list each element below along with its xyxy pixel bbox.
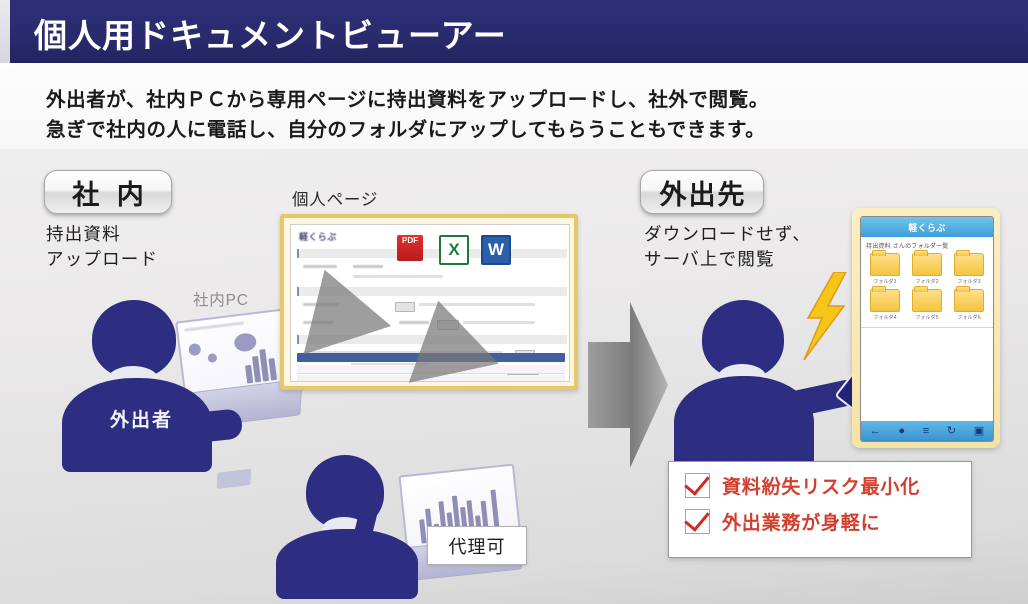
- list-item[interactable]: フォルダ4: [865, 289, 905, 321]
- mockup-logo: 軽くらぶ: [299, 230, 337, 243]
- menu-icon[interactable]: ≡: [923, 426, 929, 437]
- benefit-label: 外出業務が身軽に: [722, 508, 880, 535]
- camera-icon[interactable]: ▣: [974, 426, 984, 437]
- mobile-folder-grid: フォルダ1 フォルダ2 フォルダ3 フォルダ4 フォルダ5: [861, 253, 993, 328]
- list-item[interactable]: フォルダ1: [865, 253, 905, 285]
- badge-internal: 社 内: [44, 170, 172, 214]
- mobile-device-mockup[interactable]: 軽くらぶ 持出資料 さんのフォルダ一覧 フォルダ1 フォルダ2 フォルダ3 フォ: [852, 208, 1000, 448]
- person-arm: [167, 408, 244, 446]
- caption-upload-line-1: 持出資料: [46, 222, 158, 247]
- person-proxy: [270, 455, 445, 595]
- folder-label: フォルダ2: [907, 278, 947, 285]
- back-icon[interactable]: ←: [870, 426, 881, 437]
- subtitle-line-2: 急ぎで社内の人に電話し、自分のフォルダにアップしてもらうこともできます。: [46, 113, 765, 142]
- list-item[interactable]: フォルダ2: [907, 253, 947, 285]
- screen-chart-bar: [259, 349, 269, 381]
- caption-view-line-1: ダウンロードせず、: [644, 222, 811, 247]
- list-item[interactable]: フォルダ5: [907, 289, 947, 321]
- subtitle-band: 外出者が、社内ＰＣから専用ページに持出資料をアップロードし、社外で閲覧。 急ぎで…: [0, 63, 1028, 149]
- folder-label: フォルダ5: [907, 314, 947, 321]
- mockup-section-header: [297, 249, 567, 258]
- folder-icon: [954, 289, 984, 312]
- proxy-label-box: 代理可: [427, 526, 527, 565]
- folder-icon: [954, 253, 984, 276]
- mobile-content-area: [861, 328, 993, 421]
- refresh-icon[interactable]: ↻: [947, 426, 956, 437]
- folder-icon: [870, 253, 900, 276]
- label-personal-page: 個人ページ: [292, 186, 378, 210]
- benefit-row: 外出業務が身軽に: [685, 508, 971, 535]
- checkmark-icon: [685, 509, 710, 534]
- folder-label: フォルダ1: [865, 278, 905, 285]
- page-title: 個人用ドキュメントビューアー: [34, 9, 507, 57]
- excel-file-icon: X: [439, 235, 469, 265]
- folder-label: フォルダ4: [865, 314, 905, 321]
- pdf-file-icon-label: PDF: [397, 236, 423, 245]
- label-traveler: 外出者: [110, 405, 173, 432]
- caption-view-line-2: サーバ上で閲覧: [644, 247, 811, 272]
- folder-icon: [912, 289, 942, 312]
- mobile-screen: 軽くらぶ 持出資料 さんのフォルダ一覧 フォルダ1 フォルダ2 フォルダ3 フォ: [860, 216, 994, 442]
- caption-upload-line-2: アップロード: [46, 247, 158, 272]
- list-item[interactable]: フォルダ3: [949, 253, 989, 285]
- caption-view: ダウンロードせず、 サーバ上で閲覧: [644, 222, 811, 272]
- folder-icon: [912, 253, 942, 276]
- benefit-row: 資料紛失リスク最小化: [685, 472, 971, 499]
- mobile-bottom-nav: ← ● ≡ ↻ ▣: [861, 421, 993, 441]
- person-body: [276, 529, 418, 599]
- laptop-trackpad: [217, 469, 252, 489]
- folder-label: フォルダ6: [949, 314, 989, 321]
- person-traveler: 外出者: [48, 300, 233, 470]
- screen-chart-bar: [245, 365, 253, 384]
- benefit-label: 資料紛失リスク最小化: [722, 472, 920, 499]
- slide-canvas: 個人用ドキュメントビューアー 外出者が、社内ＰＣから専用ページに持出資料をアップ…: [0, 0, 1028, 604]
- checkmark-icon: [685, 473, 710, 498]
- screen-chart-blob: [233, 332, 257, 353]
- word-file-icon: W: [481, 235, 511, 265]
- caption-upload: 持出資料 アップロード: [46, 222, 158, 272]
- folder-icon: [870, 289, 900, 312]
- flow-arrow-icon: [586, 300, 670, 470]
- folder-label: フォルダ3: [949, 278, 989, 285]
- screen-chart-bar: [268, 358, 277, 381]
- header-bar: 個人用ドキュメントビューアー: [0, 0, 1028, 63]
- benefits-panel: 資料紛失リスク最小化 外出業務が身軽に: [668, 461, 972, 558]
- badge-offsite: 外出先: [640, 170, 764, 214]
- pdf-file-icon: PDF: [397, 235, 423, 261]
- subtitle-line-1: 外出者が、社内ＰＣから専用ページに持出資料をアップロードし、社外で閲覧。: [46, 83, 769, 112]
- mobile-app-title: 軽くらぶ: [861, 217, 993, 237]
- wireless-bolt-icon: [798, 272, 850, 360]
- home-icon[interactable]: ●: [898, 426, 905, 437]
- list-item[interactable]: フォルダ6: [949, 289, 989, 321]
